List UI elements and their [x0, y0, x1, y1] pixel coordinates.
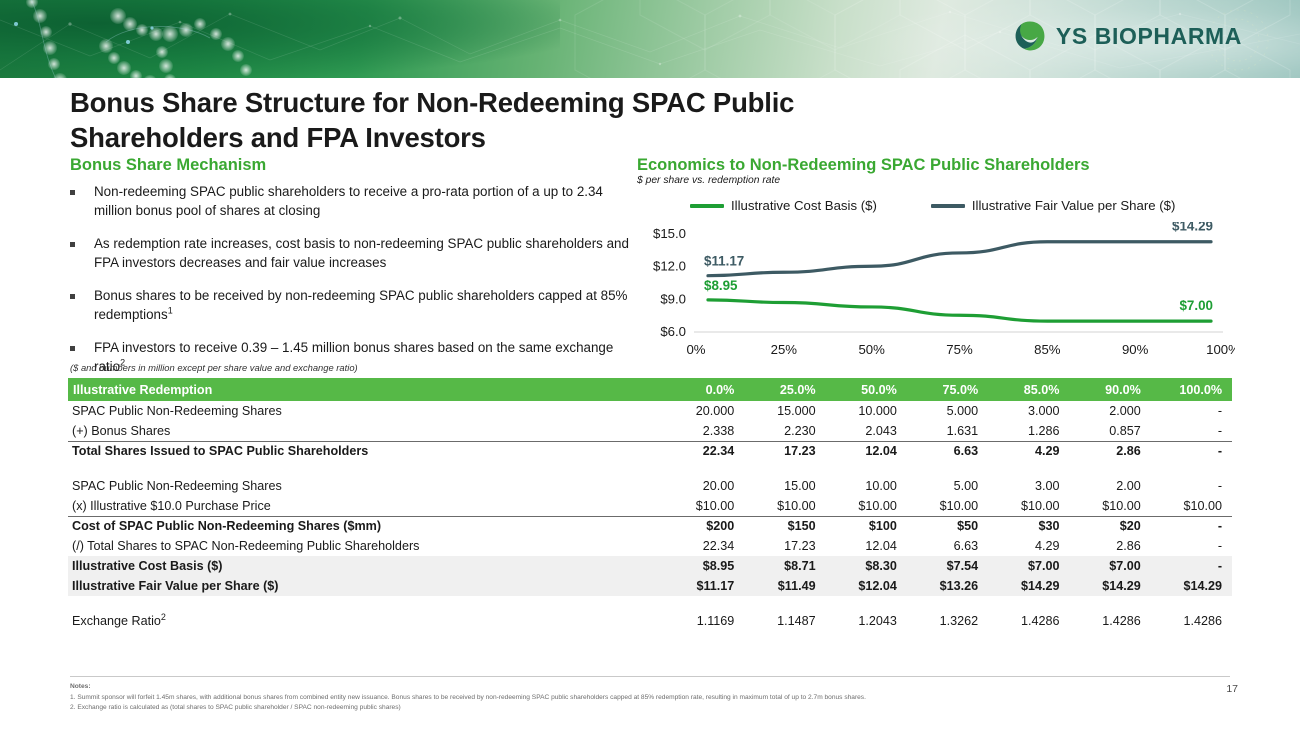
- brand-logo: YS BIOPHARMA: [1013, 19, 1242, 53]
- y-axis-tick-label: $15.0: [653, 226, 686, 241]
- table-cell: $100: [826, 516, 907, 536]
- table-cell: 5.000: [907, 401, 988, 421]
- table-row: (/) Total Shares to SPAC Non-Redeeming P…: [68, 536, 1232, 556]
- table-row-label: (x) Illustrative $10.0 Purchase Price: [68, 496, 663, 516]
- table-cell: $10.00: [663, 496, 744, 516]
- table-cell: $10.00: [907, 496, 988, 516]
- table-cell: 17.23: [744, 536, 825, 556]
- x-axis-tick-label: 100%: [1206, 342, 1235, 357]
- table-cell: 6.63: [907, 441, 988, 461]
- legend-label: Illustrative Cost Basis ($): [731, 198, 877, 213]
- table-column-header: 85.0%: [988, 378, 1069, 401]
- chart-data-label-end: $7.00: [1179, 298, 1213, 313]
- bullet-list: Non-redeeming SPAC public shareholders t…: [70, 182, 630, 390]
- table-cell: -: [1151, 401, 1232, 421]
- table-header-row: Illustrative Redemption0.0%25.0%50.0%75.…: [68, 378, 1232, 401]
- table-cell: -: [1151, 476, 1232, 496]
- table-row: Illustrative Fair Value per Share ($)$11…: [68, 576, 1232, 596]
- table-cell: 6.63: [907, 536, 988, 556]
- x-axis-tick-label: 75%: [946, 342, 973, 357]
- table-cell: 15.00: [744, 476, 825, 496]
- list-item: Bonus shares to be received by non-redee…: [70, 286, 630, 325]
- x-axis-tick-label: 85%: [1034, 342, 1061, 357]
- table-row: SPAC Public Non-Redeeming Shares20.0015.…: [68, 476, 1232, 496]
- chart-data-label-start: $8.95: [704, 278, 738, 293]
- table-cell: $14.29: [1151, 576, 1232, 596]
- footer-divider: [70, 676, 1230, 677]
- table-row: (+) Bonus Shares2.3382.2302.0431.6311.28…: [68, 421, 1232, 441]
- table-cell: 5.00: [907, 476, 988, 496]
- table-row-label: SPAC Public Non-Redeeming Shares: [68, 476, 663, 496]
- chart-series-line-cost-basis: [708, 300, 1211, 321]
- legend-label: Illustrative Fair Value per Share ($): [972, 198, 1176, 213]
- table-cell: 1.286: [988, 421, 1069, 441]
- table-row: Total Shares Issued to SPAC Public Share…: [68, 441, 1232, 461]
- table-cell: 15.000: [744, 401, 825, 421]
- table-cell: 3.000: [988, 401, 1069, 421]
- table-cell: $14.29: [988, 576, 1069, 596]
- table-spacer-row: [68, 596, 1232, 611]
- table-row-label: (/) Total Shares to SPAC Non-Redeeming P…: [68, 536, 663, 556]
- chart-data-label-end: $14.29: [1172, 222, 1213, 234]
- table-cell: 2.230: [744, 421, 825, 441]
- table-cell: 2.000: [1069, 401, 1150, 421]
- footnote-ref: 2: [161, 612, 166, 622]
- slide: YS BIOPHARMA Bonus Share Structure for N…: [0, 0, 1300, 729]
- table-column-header: 50.0%: [826, 378, 907, 401]
- table-cell: 20.000: [663, 401, 744, 421]
- table-row-label: (+) Bonus Shares: [68, 421, 663, 441]
- table-row-label: Total Shares Issued to SPAC Public Share…: [68, 441, 663, 461]
- table-cell: 0.857: [1069, 421, 1150, 441]
- dna-helix-decoration: [10, 0, 370, 78]
- table-header-label: Illustrative Redemption: [68, 378, 663, 401]
- table-cell: $11.17: [663, 576, 744, 596]
- x-axis-tick-label: 25%: [771, 342, 798, 357]
- list-item: As redemption rate increases, cost basis…: [70, 234, 630, 273]
- table-cell: 1.631: [907, 421, 988, 441]
- table-row: (x) Illustrative $10.0 Purchase Price$10…: [68, 496, 1232, 516]
- bullet-text: Bonus shares to be received by non-redee…: [94, 286, 630, 325]
- bullet-text: Non-redeeming SPAC public shareholders t…: [94, 182, 630, 221]
- table-cell: $8.95: [663, 556, 744, 576]
- table-cell: 12.04: [826, 441, 907, 461]
- ys-leaf-circle-logo-icon: [1013, 19, 1047, 53]
- table-cell: 10.00: [826, 476, 907, 496]
- table-spacer-row: [68, 461, 1232, 476]
- page-number: 17: [1226, 683, 1238, 695]
- redemption-table: Illustrative Redemption0.0%25.0%50.0%75.…: [68, 378, 1232, 631]
- table-column-header: 100.0%: [1151, 378, 1232, 401]
- table-cell: $10.00: [744, 496, 825, 516]
- chart-series-line-fair-value: [708, 242, 1211, 276]
- chart-title: Economics to Non-Redeeming SPAC Public S…: [637, 156, 1090, 175]
- bullet-text: As redemption rate increases, cost basis…: [94, 234, 630, 273]
- table-cell: 2.86: [1069, 441, 1150, 461]
- bullet-square-icon: [70, 242, 75, 247]
- x-axis-tick-label: 0%: [686, 342, 705, 357]
- table-cell: $10.00: [988, 496, 1069, 516]
- table-row: Cost of SPAC Public Non-Redeeming Shares…: [68, 516, 1232, 536]
- note-2: 2. Exchange ratio is calculated as (tota…: [70, 703, 1170, 714]
- table-cell: 22.34: [663, 536, 744, 556]
- table-cell: -: [1151, 516, 1232, 536]
- table-cell: 3.00: [988, 476, 1069, 496]
- table-cell: $8.71: [744, 556, 825, 576]
- table-cell: 1.2043: [826, 611, 907, 631]
- table-cell: $10.00: [826, 496, 907, 516]
- chart-legend: Illustrative Cost Basis ($) Illustrative…: [690, 198, 1210, 213]
- table-row-label: Exchange Ratio2: [68, 611, 663, 631]
- legend-item-cost-basis: Illustrative Cost Basis ($): [690, 198, 877, 213]
- table-row-label: SPAC Public Non-Redeeming Shares: [68, 401, 663, 421]
- y-axis-tick-label: $6.0: [660, 324, 686, 339]
- table-column-header: 0.0%: [663, 378, 744, 401]
- table-cell: $200: [663, 516, 744, 536]
- table-cell: 2.338: [663, 421, 744, 441]
- bullet-square-icon: [70, 346, 75, 351]
- table-column-header: 75.0%: [907, 378, 988, 401]
- table-cell: $10.00: [1151, 496, 1232, 516]
- left-section-heading: Bonus Share Mechanism: [70, 156, 266, 175]
- table-row-label: Cost of SPAC Public Non-Redeeming Shares…: [68, 516, 663, 536]
- table-cell: $10.00: [1069, 496, 1150, 516]
- x-axis-tick-label: 50%: [858, 342, 885, 357]
- footnote-ref: 1: [168, 306, 173, 316]
- x-axis-tick-label: 90%: [1122, 342, 1149, 357]
- table-row: Illustrative Cost Basis ($)$8.95$8.71$8.…: [68, 556, 1232, 576]
- table-cell: $8.30: [826, 556, 907, 576]
- table-cell: 1.3262: [907, 611, 988, 631]
- table-cell: $7.00: [1069, 556, 1150, 576]
- legend-swatch-line: [931, 204, 965, 208]
- bullet-square-icon: [70, 294, 75, 299]
- table-column-header: 90.0%: [1069, 378, 1150, 401]
- page-title: Bonus Share Structure for Non-Redeeming …: [70, 86, 900, 155]
- y-axis-tick-label: $12.0: [653, 259, 686, 274]
- table-cell: 2.00: [1069, 476, 1150, 496]
- table-cell: 2.043: [826, 421, 907, 441]
- table-cell: -: [1151, 421, 1232, 441]
- table-cell: $7.00: [988, 556, 1069, 576]
- table-cell: -: [1151, 536, 1232, 556]
- table-cell: 4.29: [988, 536, 1069, 556]
- chart-subtitle: $ per share vs. redemption rate: [637, 175, 780, 186]
- table-cell: -: [1151, 556, 1232, 576]
- table-cell: 1.4286: [1069, 611, 1150, 631]
- table-row-label: Illustrative Cost Basis ($): [68, 556, 663, 576]
- table-cell: $11.49: [744, 576, 825, 596]
- chart-canvas: $6.0$9.0$12.0$15.00%25%50%75%85%90%100%$…: [630, 222, 1235, 362]
- notes-heading: Notes:: [70, 682, 1170, 693]
- table-cell: 2.86: [1069, 536, 1150, 556]
- line-chart: $6.0$9.0$12.0$15.00%25%50%75%85%90%100%$…: [630, 222, 1235, 362]
- table-row: SPAC Public Non-Redeeming Shares20.00015…: [68, 401, 1232, 421]
- list-item: Non-redeeming SPAC public shareholders t…: [70, 182, 630, 221]
- table-cell: $30: [988, 516, 1069, 536]
- table-cell: 12.04: [826, 536, 907, 556]
- table-cell: 1.1169: [663, 611, 744, 631]
- table-spacer-cell: [68, 596, 1232, 611]
- table-spacer-cell: [68, 461, 1232, 476]
- table-cell: 4.29: [988, 441, 1069, 461]
- table-cell: $13.26: [907, 576, 988, 596]
- table-cell: 20.00: [663, 476, 744, 496]
- table-caption: ($ and numbers in million except per sha…: [70, 362, 358, 373]
- table-column-header: 25.0%: [744, 378, 825, 401]
- table-cell: 10.000: [826, 401, 907, 421]
- table-cell: $7.54: [907, 556, 988, 576]
- table-cell: 22.34: [663, 441, 744, 461]
- table-row-label: Illustrative Fair Value per Share ($): [68, 576, 663, 596]
- footnotes: Notes: 1. Summit sponsor will forfeit 1.…: [70, 682, 1170, 714]
- table-cell: 17.23: [744, 441, 825, 461]
- table-cell: $12.04: [826, 576, 907, 596]
- table-cell: $50: [907, 516, 988, 536]
- header-banner: YS BIOPHARMA: [0, 0, 1300, 78]
- table-cell: $14.29: [1069, 576, 1150, 596]
- brand-logo-text: YS BIOPHARMA: [1056, 23, 1242, 50]
- table-cell: -: [1151, 441, 1232, 461]
- table-cell: 1.1487: [744, 611, 825, 631]
- table-cell: 1.4286: [1151, 611, 1232, 631]
- note-1: 1. Summit sponsor will forfeit 1.45m sha…: [70, 693, 1170, 704]
- bullet-square-icon: [70, 190, 75, 195]
- table-cell: $20: [1069, 516, 1150, 536]
- legend-item-fair-value: Illustrative Fair Value per Share ($): [931, 198, 1176, 213]
- table-cell: 1.4286: [988, 611, 1069, 631]
- table-row: Exchange Ratio21.11691.14871.20431.32621…: [68, 611, 1232, 631]
- y-axis-tick-label: $9.0: [660, 291, 686, 306]
- table-cell: $150: [744, 516, 825, 536]
- chart-data-label-start: $11.17: [704, 254, 744, 269]
- legend-swatch-line: [690, 204, 724, 208]
